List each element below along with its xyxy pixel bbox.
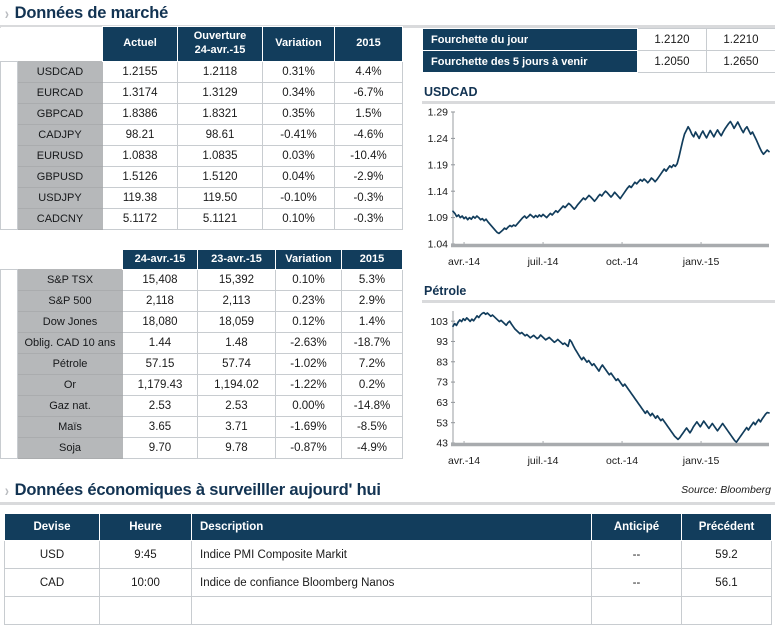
cell-variation: -1.69% — [276, 417, 342, 438]
table-row: USDJPY119.38119.50-0.10%-0.3% — [1, 187, 403, 208]
y-axis-tick-label: 1.09 — [428, 212, 449, 224]
petrole-chart-title: Pétrole — [422, 284, 775, 298]
table-row: Fourchette du jour1.21201.2210 — [423, 29, 775, 51]
usdcad-chart-plot: 1.041.091.141.191.241.29 — [422, 106, 775, 256]
fx-table-header-row: Actuel Ouverture 24-avr.-15 Variation 20… — [1, 27, 403, 62]
cell-actuel: 1.5126 — [103, 166, 178, 187]
cell-2015: -10.4% — [335, 145, 403, 166]
row-label: Pétrole — [18, 354, 123, 375]
usdcad-range-table: Fourchette du jour1.21201.2210Fourchette… — [422, 28, 775, 73]
row-label: S&P 500 — [18, 291, 123, 312]
cell-variation: 0.10% — [263, 208, 335, 229]
market-dashboard-page: › Données de marché Actuel Ouverture — [0, 0, 775, 628]
cell-date1: 2,118 — [123, 291, 198, 312]
eco-col-heure: Heure — [100, 514, 192, 541]
row-label: Or — [18, 375, 123, 396]
cell-ouverture: 98.61 — [178, 124, 263, 145]
usdcad-chart-block: USDCAD 1.041.091.141.191.241.29 avr.-14j… — [422, 85, 775, 270]
cell-2015: -0.3% — [335, 187, 403, 208]
x-axis-tick-label: oct.-14 — [606, 455, 638, 467]
economic-section-title: Données économiques à surveilller aujour… — [15, 481, 381, 500]
table-row: CADCNY5.11725.11210.10%-0.3% — [1, 208, 403, 229]
other-markets-group-band: Autres marchés — [1, 270, 18, 459]
table-row: Oblig. CAD 10 ans1.441.48-2.63%-18.7% — [1, 333, 403, 354]
x-axis-tick-label: juil.-14 — [528, 256, 559, 268]
table-row: Pétrole57.1557.74-1.02%7.2% — [1, 354, 403, 375]
table-row — [5, 597, 772, 625]
cell-actuel: 119.38 — [103, 187, 178, 208]
range-high: 1.2650 — [707, 51, 775, 73]
cell-description: Indice de confiance Bloomberg Nanos — [192, 569, 592, 597]
y-axis-tick-label: 63 — [436, 397, 448, 409]
row-label: GBPUSD — [18, 166, 103, 187]
row-label: CADJPY — [18, 124, 103, 145]
cell-2015: -8.5% — [342, 417, 403, 438]
cell-actuel: 1.8386 — [103, 103, 178, 124]
fx-col-ouverture: Ouverture 24-avr.-15 — [178, 27, 263, 62]
fx-col-variation: Variation — [263, 27, 335, 62]
usdcad-x-axis-labels: avr.-14juil.-14oct.-14janv.-15 — [422, 256, 775, 270]
x-axis-tick-label: avr.-14 — [448, 256, 480, 268]
cell-anticipe: -- — [592, 569, 682, 597]
petrole-chart-divider — [422, 300, 775, 303]
cell-2015: -2.9% — [335, 166, 403, 187]
cell-heure: 10:00 — [100, 569, 192, 597]
cell-variation: 0.34% — [263, 82, 335, 103]
y-axis-tick-label: 83 — [436, 356, 448, 368]
eco-col-description: Description — [192, 514, 592, 541]
cell-devise: USD — [5, 541, 100, 569]
cell-variation: 0.03% — [263, 145, 335, 166]
usdcad-chart-title: USDCAD — [422, 85, 775, 99]
cell-date2: 1.48 — [198, 333, 276, 354]
cell-2015: -0.3% — [335, 208, 403, 229]
chart-series-line — [453, 313, 769, 443]
cell-devise — [5, 597, 100, 625]
y-axis-tick-label: 53 — [436, 417, 448, 429]
x-axis-tick-label: juil.-14 — [528, 455, 559, 467]
cell-variation: 0.35% — [263, 103, 335, 124]
table-row: CAD10:00Indice de confiance Bloomberg Na… — [5, 569, 772, 597]
cell-ouverture: 1.5120 — [178, 166, 263, 187]
page-title: Données de marché — [15, 4, 168, 23]
eco-col-anticipe: Anticipé — [592, 514, 682, 541]
row-label: USDCAD — [18, 61, 103, 82]
cell-date2: 9.78 — [198, 438, 276, 459]
row-label: EURCAD — [18, 82, 103, 103]
table-row: S&P 5002,1182,1130.23%2.9% — [1, 291, 403, 312]
cell-date2: 57.74 — [198, 354, 276, 375]
om-col-2015: 2015 — [342, 249, 403, 270]
cell-date1: 15,408 — [123, 270, 198, 291]
usdcad-chart-divider — [422, 101, 775, 104]
table-row: CADJPY98.2198.61-0.41%-4.6% — [1, 124, 403, 145]
cell-2015: 1.4% — [342, 312, 403, 333]
economic-events-table: Devise Heure Description Anticipé Précéd… — [4, 513, 772, 625]
cell-actuel: 5.1172 — [103, 208, 178, 229]
range-label: Fourchette des 5 jours à venir — [423, 51, 638, 73]
table-row: USD9:45Indice PMI Composite Markit--59.2 — [5, 541, 772, 569]
cell-2015: 4.4% — [335, 61, 403, 82]
range-low: 1.2050 — [638, 51, 707, 73]
cell-actuel: 1.3174 — [103, 82, 178, 103]
cell-date2: 3.71 — [198, 417, 276, 438]
cell-ouverture: 1.3129 — [178, 82, 263, 103]
chart-series-line — [453, 122, 769, 234]
cell-anticipe — [592, 597, 682, 625]
cell-anticipe: -- — [592, 541, 682, 569]
other-markets-table: 24-avr.-15 23-avr.-15 Variation 2015 Aut… — [0, 249, 403, 460]
row-label: Dow Jones — [18, 312, 123, 333]
cell-ouverture: 1.2118 — [178, 61, 263, 82]
table-row: EURCAD1.31741.31290.34%-6.7% — [1, 82, 403, 103]
cell-date1: 18,080 — [123, 312, 198, 333]
cell-date2: 2,113 — [198, 291, 276, 312]
cell-date1: 57.15 — [123, 354, 198, 375]
cell-actuel: 1.0838 — [103, 145, 178, 166]
cell-precedent: 56.1 — [682, 569, 772, 597]
fx-group-label: FX — [4, 138, 16, 152]
row-label: Gaz nat. — [18, 396, 123, 417]
row-label: GBPCAD — [18, 103, 103, 124]
table-row: Fourchette des 5 jours à venir1.20501.26… — [423, 51, 775, 73]
cell-actuel: 98.21 — [103, 124, 178, 145]
cell-date2: 2.53 — [198, 396, 276, 417]
cell-variation: 0.23% — [276, 291, 342, 312]
x-axis-tick-label: avr.-14 — [448, 455, 480, 467]
petrole-chart-block: Pétrole 435363738393103 avr.-14juil.-14o… — [422, 284, 775, 469]
table-row: GBPCAD1.83861.83210.35%1.5% — [1, 103, 403, 124]
x-axis-tick-label: janv.-15 — [683, 455, 720, 467]
cell-date1: 1,179.43 — [123, 375, 198, 396]
table-row: EURUSD1.08381.08350.03%-10.4% — [1, 145, 403, 166]
cell-description: Indice PMI Composite Markit — [192, 541, 592, 569]
cell-2015: 5.3% — [342, 270, 403, 291]
om-col-date2: 23-avr.-15 — [198, 249, 276, 270]
y-axis-tick-label: 1.14 — [428, 186, 449, 198]
cell-2015: -18.7% — [342, 333, 403, 354]
cell-variation: 0.00% — [276, 396, 342, 417]
cell-2015: 2.9% — [342, 291, 403, 312]
market-data-section-header: › Données de marché — [0, 4, 775, 28]
y-axis-tick-label: 1.24 — [428, 133, 449, 145]
cell-variation: 0.31% — [263, 61, 335, 82]
cell-2015: 0.2% — [342, 375, 403, 396]
cell-heure — [100, 597, 192, 625]
range-high: 1.2210 — [707, 29, 775, 51]
y-axis-tick-label: 1.29 — [428, 107, 449, 119]
fx-col-2015: 2015 — [335, 27, 403, 62]
cell-heure: 9:45 — [100, 541, 192, 569]
cell-variation: -1.02% — [276, 354, 342, 375]
other-markets-group-label: Autres marchés — [4, 322, 16, 406]
y-axis-tick-label: 1.19 — [428, 159, 449, 171]
cell-date1: 9.70 — [123, 438, 198, 459]
table-row: Or1,179.431,194.02-1.22%0.2% — [1, 375, 403, 396]
petrole-chart-plot: 435363738393103 — [422, 305, 775, 455]
cell-2015: 7.2% — [342, 354, 403, 375]
cell-ouverture: 5.1121 — [178, 208, 263, 229]
cell-ouverture: 119.50 — [178, 187, 263, 208]
x-axis-tick-label: oct.-14 — [606, 256, 638, 268]
chevron-right-icon: › — [5, 5, 9, 22]
row-label: S&P TSX — [18, 270, 123, 291]
cell-variation: 0.04% — [263, 166, 335, 187]
om-col-date1: 24-avr.-15 — [123, 249, 198, 270]
cell-2015: 1.5% — [335, 103, 403, 124]
cell-actuel: 1.2155 — [103, 61, 178, 82]
right-charts-column: Fourchette du jour1.21201.2210Fourchette… — [422, 28, 775, 469]
y-axis-tick-label: 1.04 — [428, 239, 449, 251]
table-row: Dow Jones18,08018,0590.12%1.4% — [1, 312, 403, 333]
cell-ouverture: 1.8321 — [178, 103, 263, 124]
cell-date1: 2.53 — [123, 396, 198, 417]
cell-variation: -1.22% — [276, 375, 342, 396]
cell-precedent — [682, 597, 772, 625]
left-tables-column: Actuel Ouverture 24-avr.-15 Variation 20… — [0, 26, 410, 459]
economic-data-section: › Données économiques à surveilller aujo… — [0, 481, 775, 625]
cell-description — [192, 597, 592, 625]
cell-variation: -0.87% — [276, 438, 342, 459]
other-markets-header-row: 24-avr.-15 23-avr.-15 Variation 2015 — [1, 249, 403, 270]
y-axis-tick-label: 73 — [436, 377, 448, 389]
cell-ouverture: 1.0835 — [178, 145, 263, 166]
cell-variation: -2.63% — [276, 333, 342, 354]
table-row: GBPUSD1.51261.51200.04%-2.9% — [1, 166, 403, 187]
eco-col-precedent: Précédent — [682, 514, 772, 541]
row-label: EURUSD — [18, 145, 103, 166]
cell-date1: 1.44 — [123, 333, 198, 354]
y-axis-tick-label: 43 — [436, 438, 448, 450]
cell-2015: -14.8% — [342, 396, 403, 417]
table-row: Autres marchésS&P TSX15,40815,3920.10%5.… — [1, 270, 403, 291]
range-low: 1.2120 — [638, 29, 707, 51]
cell-2015: -4.9% — [342, 438, 403, 459]
row-label: Maïs — [18, 417, 123, 438]
table-row: FXUSDCAD1.21551.21180.31%4.4% — [1, 61, 403, 82]
y-axis-tick-label: 103 — [430, 316, 448, 328]
cell-variation: 0.12% — [276, 312, 342, 333]
cell-2015: -6.7% — [335, 82, 403, 103]
cell-precedent: 59.2 — [682, 541, 772, 569]
chevron-right-icon-2: › — [5, 482, 9, 499]
row-label: USDJPY — [18, 187, 103, 208]
range-label: Fourchette du jour — [423, 29, 638, 51]
cell-2015: -4.6% — [335, 124, 403, 145]
table-row: Maïs3.653.71-1.69%-8.5% — [1, 417, 403, 438]
cell-variation: -0.41% — [263, 124, 335, 145]
row-label: Soja — [18, 438, 123, 459]
table-row: Soja9.709.78-0.87%-4.9% — [1, 438, 403, 459]
fx-col-actuel: Actuel — [103, 27, 178, 62]
economic-header-divider — [0, 502, 775, 505]
eco-col-devise: Devise — [5, 514, 100, 541]
cell-date2: 18,059 — [198, 312, 276, 333]
cell-variation: 0.10% — [276, 270, 342, 291]
cell-date2: 15,392 — [198, 270, 276, 291]
table-row: Gaz nat.2.532.530.00%-14.8% — [1, 396, 403, 417]
row-label: Oblig. CAD 10 ans — [18, 333, 123, 354]
cell-devise: CAD — [5, 569, 100, 597]
fx-group-band: FX — [1, 61, 18, 229]
cell-date2: 1,194.02 — [198, 375, 276, 396]
petrole-x-axis-labels: avr.-14juil.-14oct.-14janv.-15 — [422, 455, 775, 469]
x-axis-tick-label: janv.-15 — [683, 256, 720, 268]
cell-date1: 3.65 — [123, 417, 198, 438]
cell-variation: -0.10% — [263, 187, 335, 208]
om-col-variation: Variation — [276, 249, 342, 270]
row-label: CADCNY — [18, 208, 103, 229]
fx-table: Actuel Ouverture 24-avr.-15 Variation 20… — [0, 26, 403, 230]
y-axis-tick-label: 93 — [436, 336, 448, 348]
economic-header-row: Devise Heure Description Anticipé Précéd… — [5, 514, 772, 541]
